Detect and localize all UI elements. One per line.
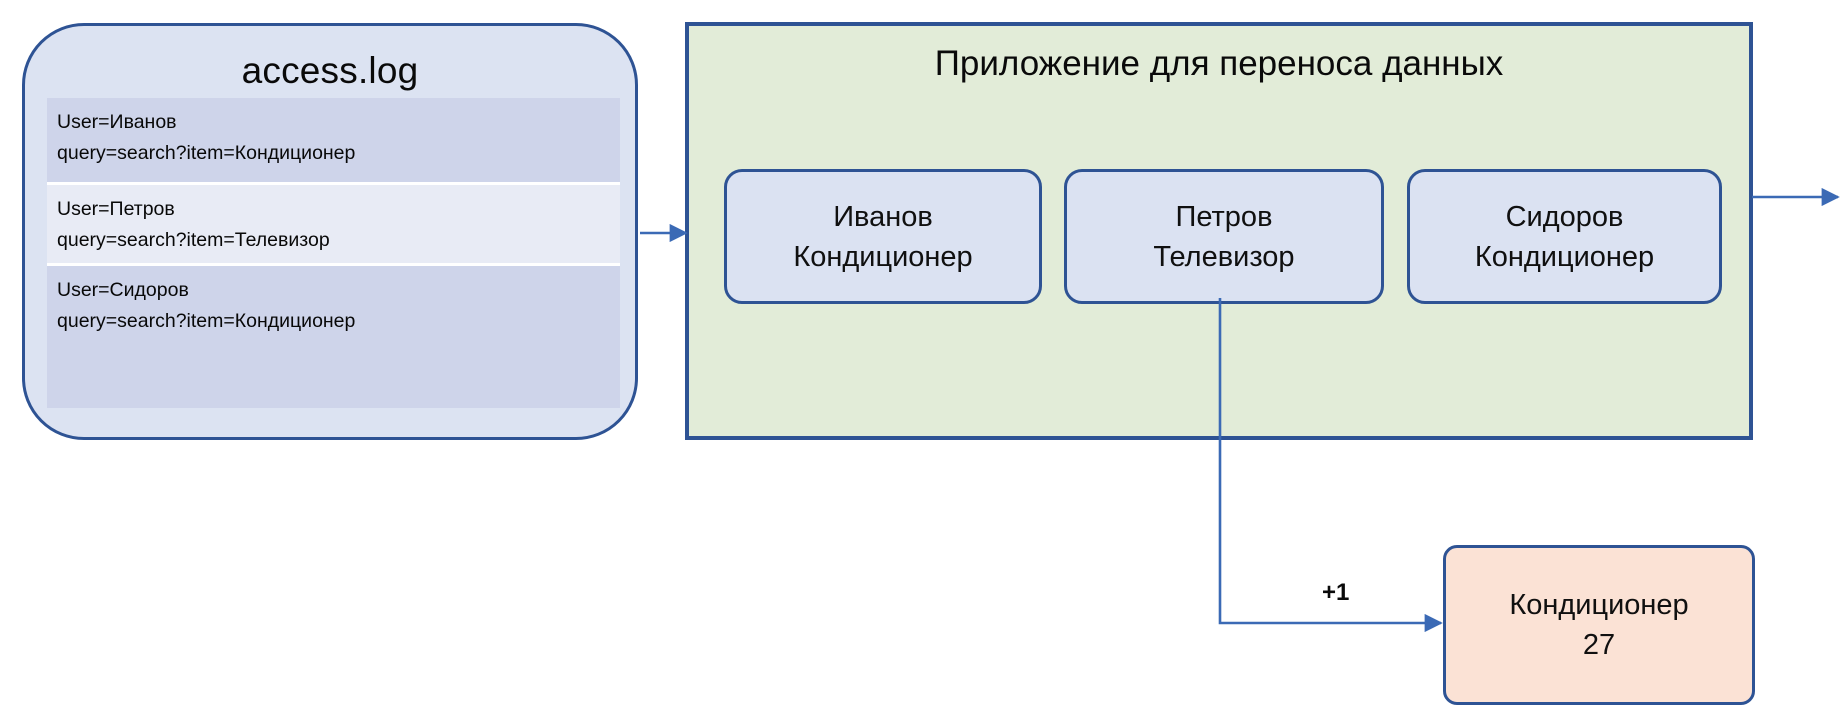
node-user-name: Иванов (833, 197, 933, 237)
log-entry-query: query=search?item=Телевизор (57, 225, 612, 256)
access-log-container: access.log User=Иванов query=search?item… (22, 23, 638, 440)
user-record-node-ivanov: Иванов Кондиционер (724, 169, 1042, 304)
application-panel: Приложение для переноса данных Иванов Ко… (685, 22, 1753, 440)
log-entry-query: query=search?item=Кондиционер (57, 138, 612, 169)
log-entry-row: User=Сидоров query=search?item=Кондицион… (47, 266, 620, 408)
node-user-name: Петров (1176, 197, 1273, 237)
node-user-name: Сидоров (1506, 197, 1624, 237)
node-item-name: Кондиционер (1475, 237, 1654, 277)
log-entry-user: User=Петров (57, 194, 612, 225)
node-item-name: Кондиционер (793, 237, 972, 277)
access-log-title: access.log (25, 50, 635, 92)
diagram-canvas: access.log User=Иванов query=search?item… (0, 0, 1840, 720)
user-record-node-sidorov: Сидоров Кондиционер (1407, 169, 1722, 304)
aggregate-result-box: Кондиционер 27 (1443, 545, 1755, 705)
result-count: 27 (1583, 625, 1615, 665)
user-record-node-petrov: Петров Телевизор (1064, 169, 1384, 304)
edge-label-increment: +1 (1322, 579, 1349, 607)
node-item-name: Телевизор (1153, 237, 1294, 277)
access-log-table: User=Иванов query=search?item=Кондиционе… (47, 98, 620, 408)
log-entry-row: User=Иванов query=search?item=Кондиционе… (47, 98, 620, 185)
log-entry-user: User=Иванов (57, 107, 612, 138)
log-entry-user: User=Сидоров (57, 275, 612, 306)
log-entry-row: User=Петров query=search?item=Телевизор (47, 185, 620, 266)
result-item-name: Кондиционер (1509, 585, 1688, 625)
log-entry-query: query=search?item=Кондиционер (57, 306, 612, 337)
application-panel-title: Приложение для переноса данных (689, 44, 1749, 84)
